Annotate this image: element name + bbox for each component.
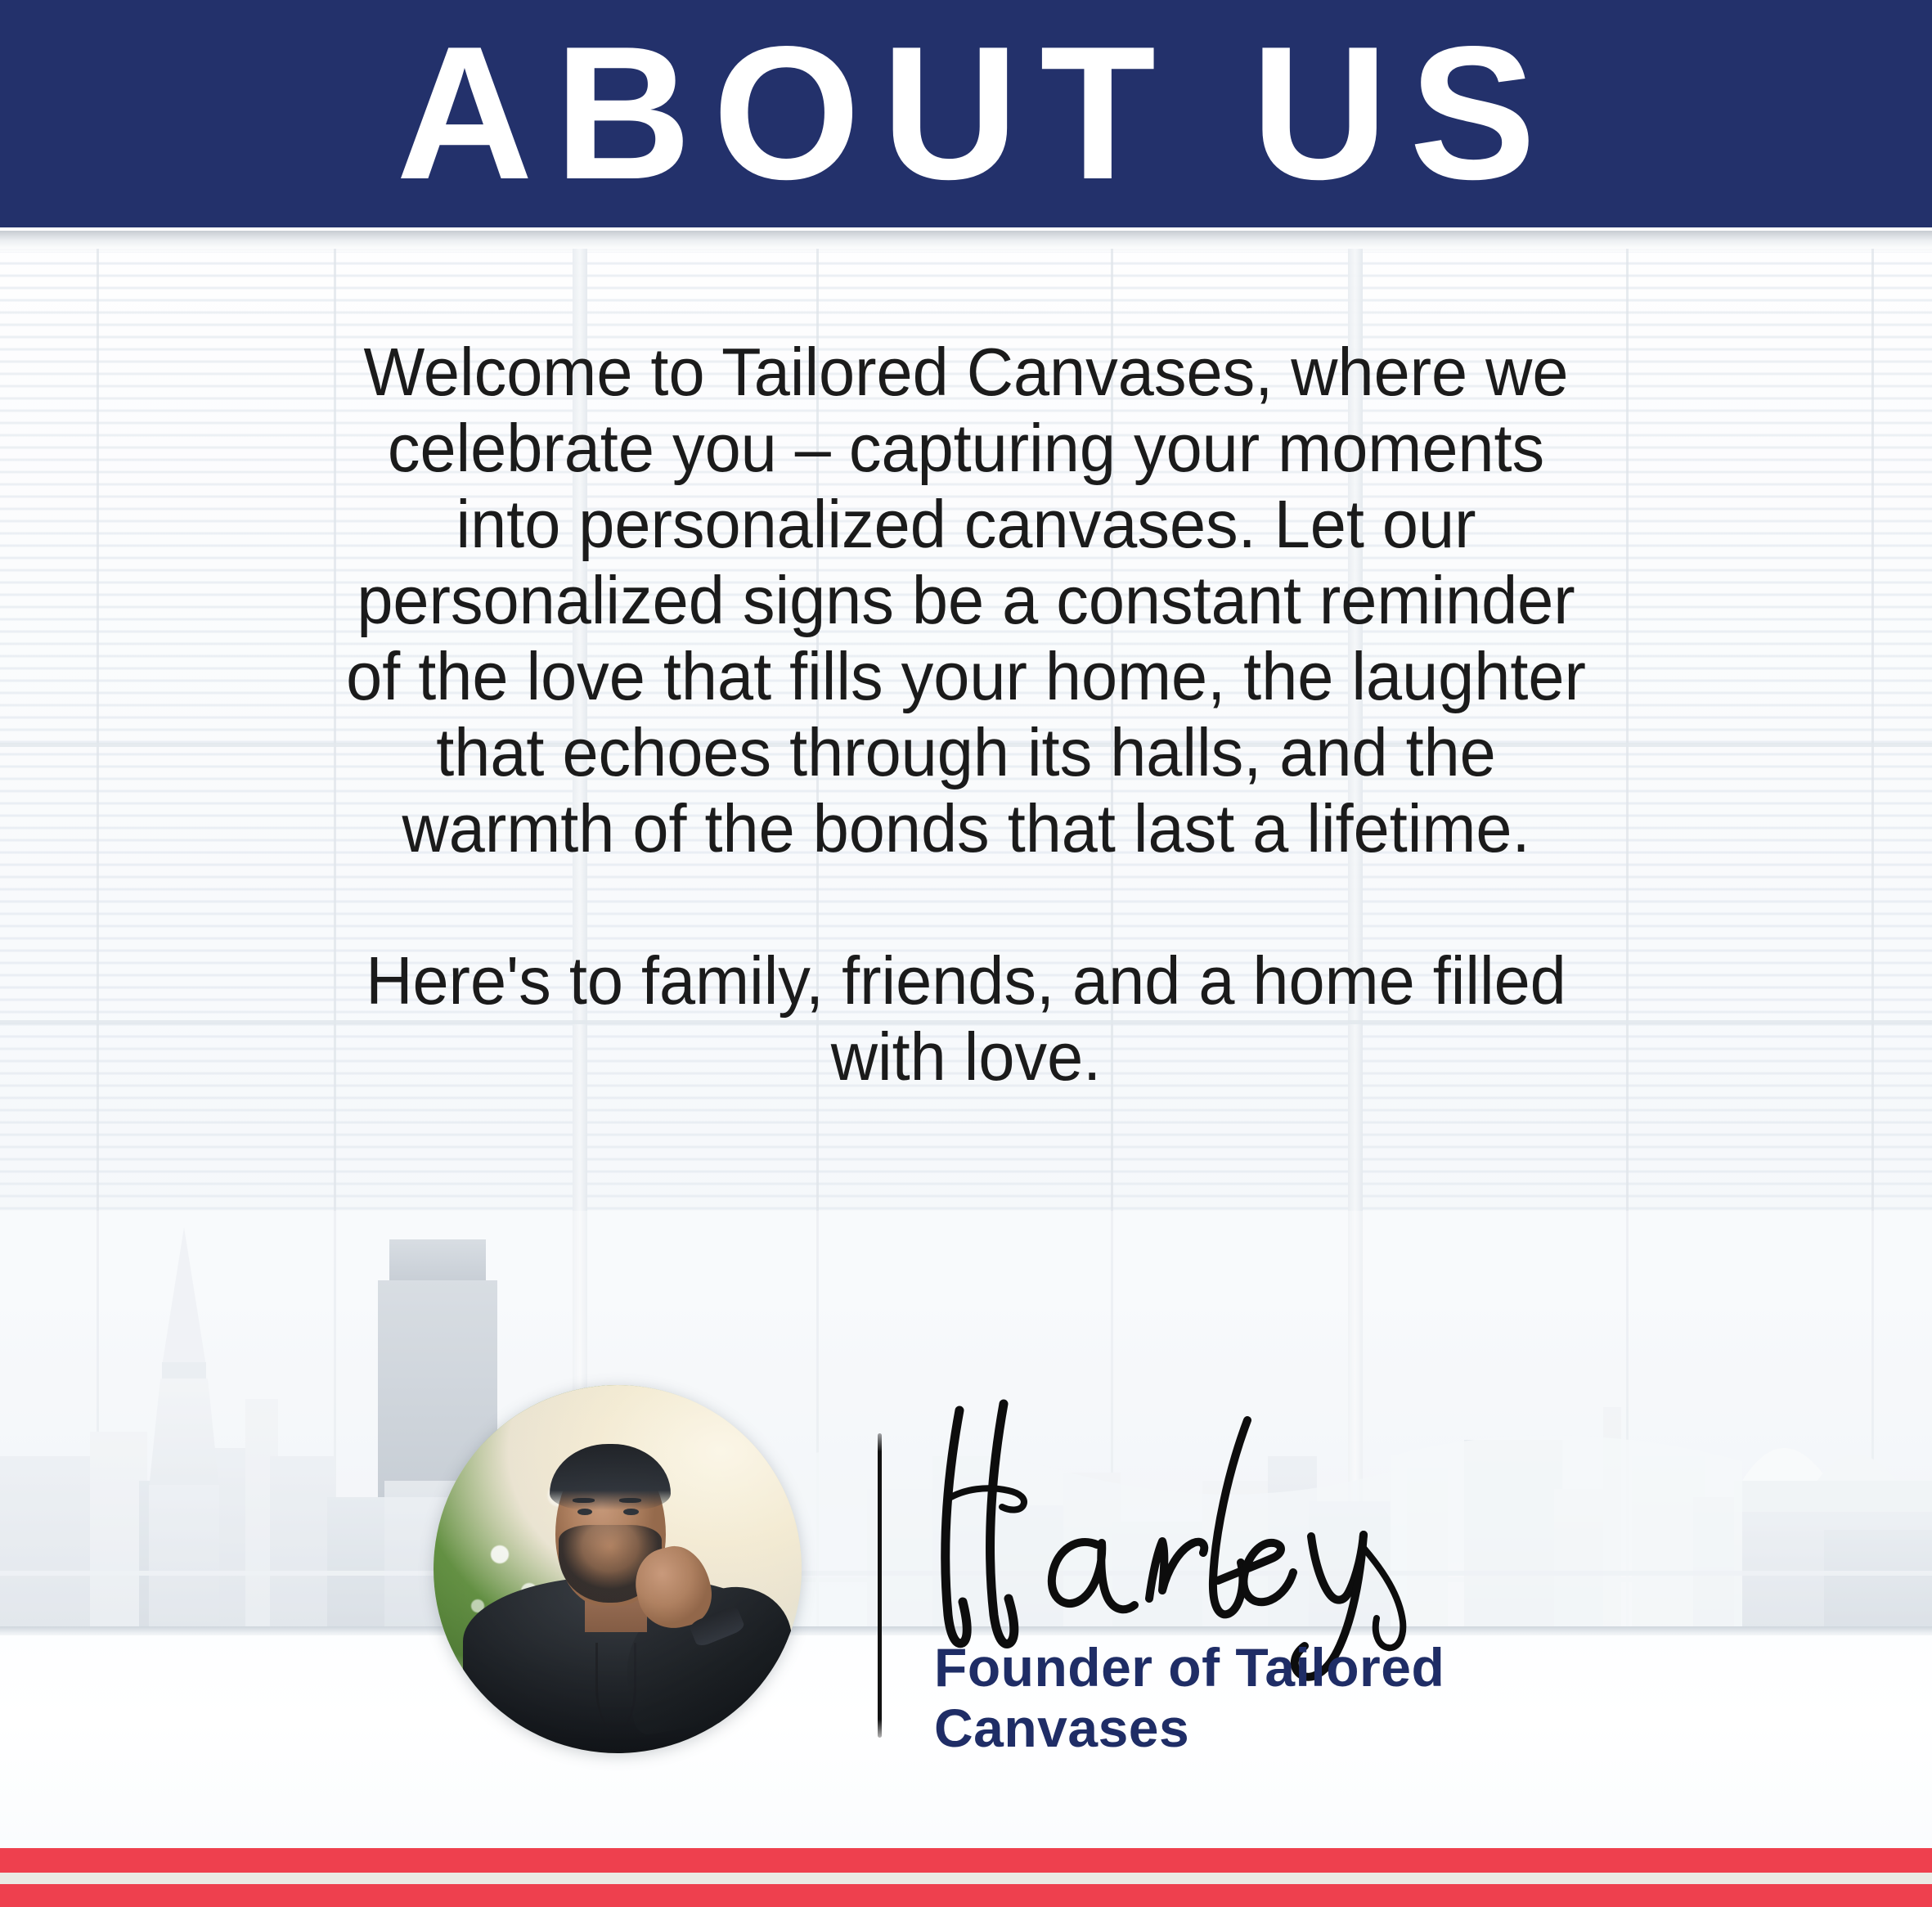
about-us-header-banner: ABOUT US [0,0,1932,227]
founder-title-line-2: Canvases [934,1698,1556,1758]
copy-line-8: Here's to family, friends, and a home fi… [263,942,1669,1019]
founder-portrait-photo [434,1385,802,1753]
paragraph-spacer [263,866,1669,942]
footer-bar-red-top [0,1848,1932,1873]
founder-title-line-1: Founder of Tailored [934,1637,1556,1698]
copy-line-7: warmth of the bonds that last a lifetime… [263,790,1669,866]
copy-line-6: that echoes through its halls, and the [263,714,1669,790]
copy-line-9: with love. [263,1019,1669,1095]
avatar [434,1385,802,1753]
copy-line-4: personalized signs be a constant reminde… [263,562,1669,638]
about-us-body-copy: Welcome to Tailored Canvases, where we c… [263,334,1669,1095]
footer-bar-gap [0,1873,1932,1884]
founder-title: Founder of Tailored Canvases [934,1637,1556,1758]
copy-line-3: into personalized canvases. Let our [263,486,1669,562]
signature-name-text: Harley [883,1383,1489,1653]
copy-line-1: Welcome to Tailored Canvases, where we [263,334,1669,410]
header-gradient-shadow [0,231,1932,249]
copy-line-2: celebrate you – capturing your moments [263,410,1669,486]
portrait-vignette [434,1385,802,1753]
copy-line-5: of the love that fills your home, the la… [263,638,1669,714]
page-title: ABOUT US [375,24,1557,204]
footer-bar-red-bottom [0,1884,1932,1907]
